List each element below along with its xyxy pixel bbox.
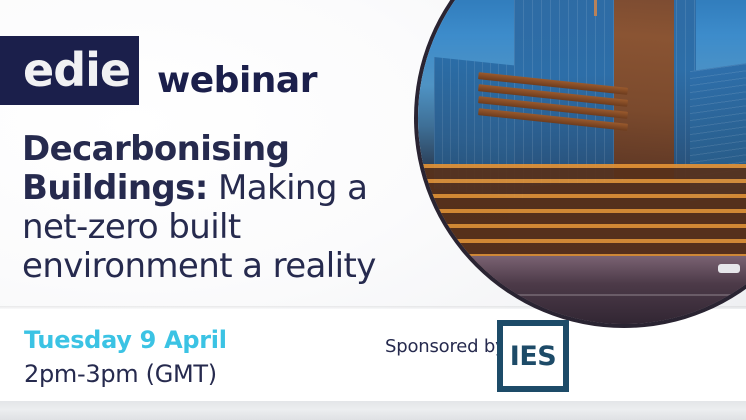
construction-site-photo: [418, 0, 746, 324]
sponsored-by-label: Sponsored by: [385, 338, 506, 356]
ies-sponsor-logo[interactable]: IES: [497, 320, 569, 392]
ies-logo-text: IES: [510, 343, 556, 370]
lit-construction-floors: [418, 164, 746, 260]
webinar-time: 2pm-3pm (GMT): [24, 362, 217, 386]
road-foreground: [418, 256, 746, 324]
page-title: Decarbonising Buildings: Making a net-ze…: [22, 130, 422, 286]
ies-logo-inner: IES: [503, 326, 563, 386]
edie-logo-text: edie: [23, 47, 130, 93]
bottom-strip: [0, 401, 746, 420]
parked-car: [718, 264, 740, 273]
edie-logo[interactable]: edie: [0, 36, 139, 105]
webinar-date: Tuesday 9 April: [24, 328, 227, 352]
road-marking: [458, 294, 746, 296]
tower-crane-mast: [594, 0, 597, 16]
webinar-promo-banner: edie webinar Decarbonising Buildings: Ma…: [0, 0, 746, 420]
hero-image-circle: [418, 0, 746, 324]
webinar-label: webinar: [157, 63, 317, 99]
